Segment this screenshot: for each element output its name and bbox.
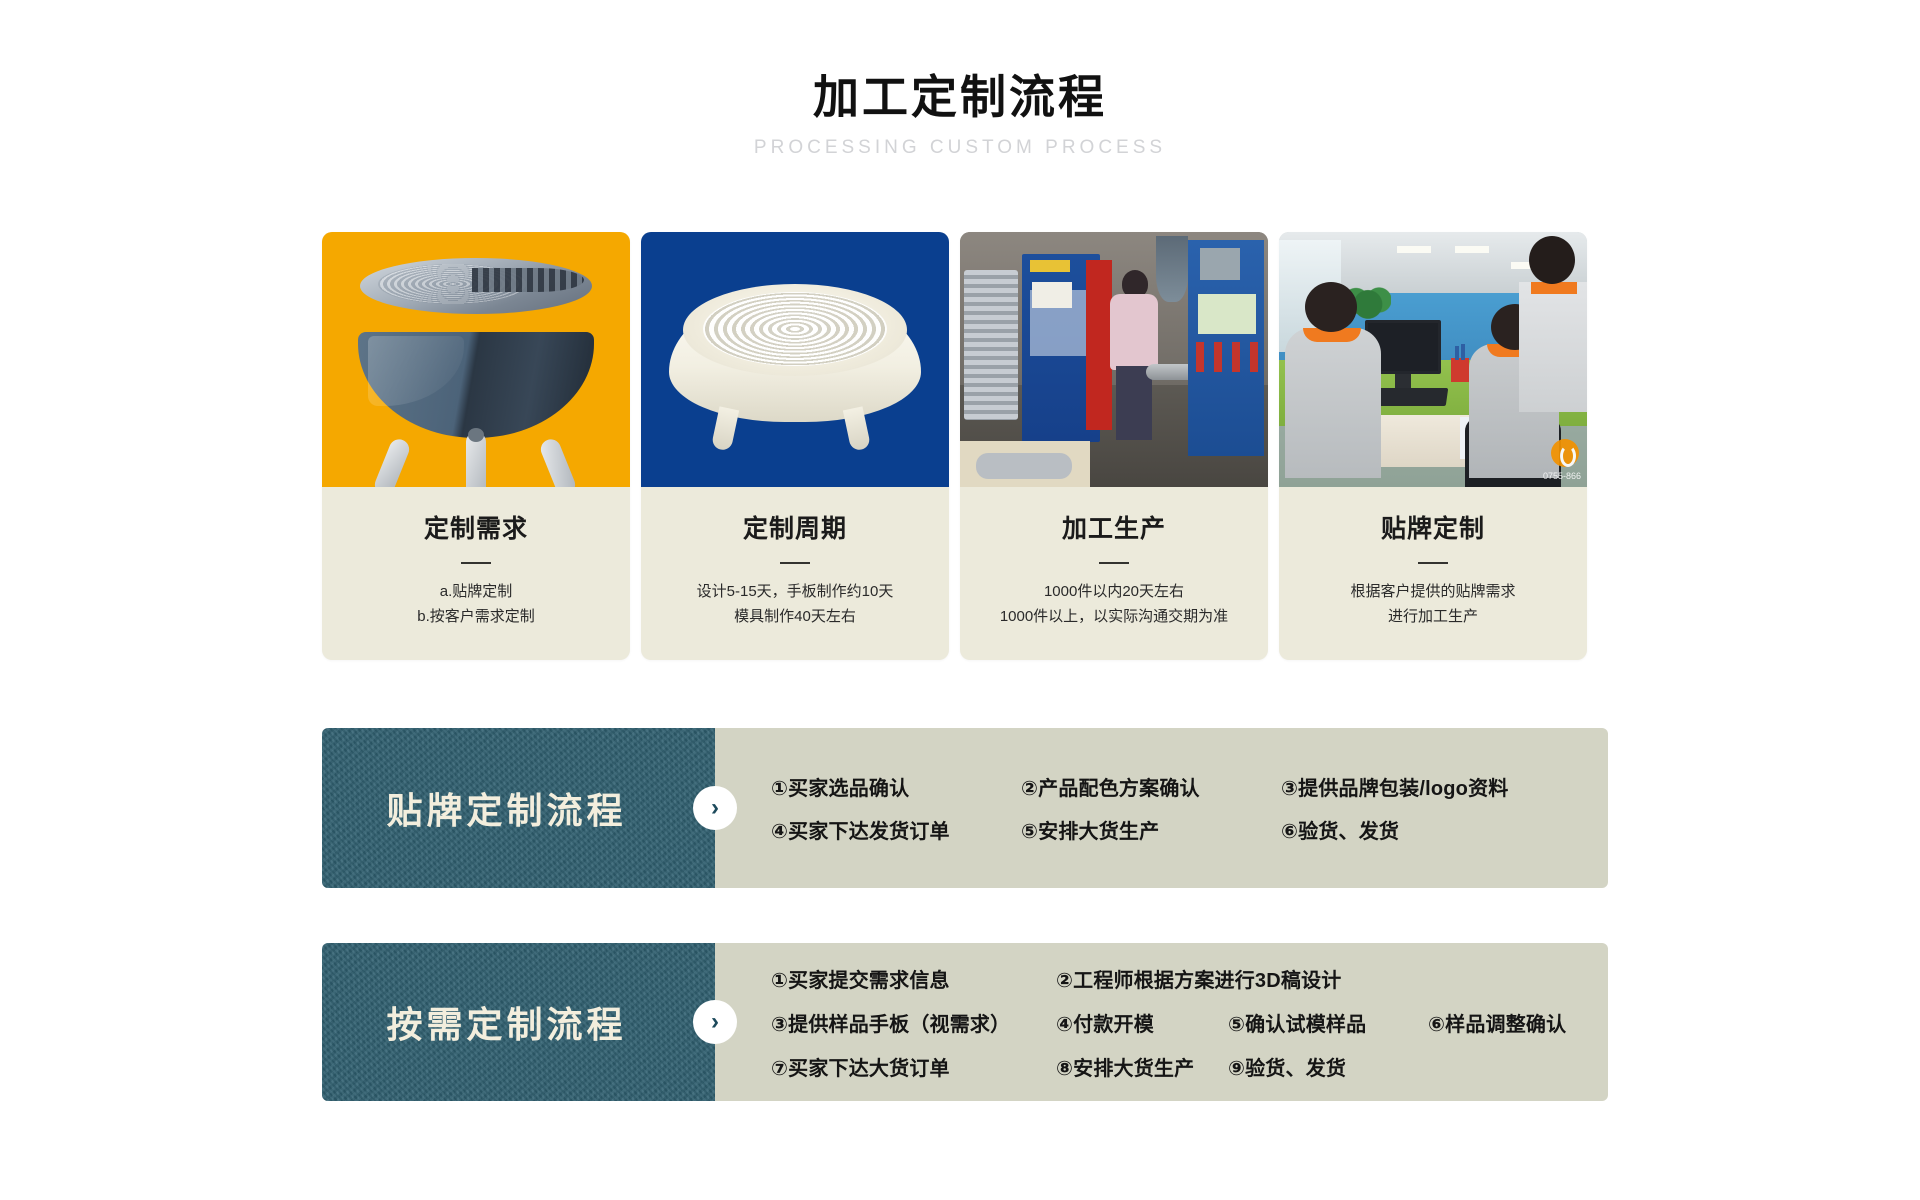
- step-item: ③提供品牌包装/logo资料: [1281, 772, 1509, 801]
- step-row: ④买家下达发货订单 ⑤安排大货生产 ⑥验货、发货: [771, 808, 1574, 851]
- exploded-product-render-image: [322, 232, 630, 487]
- prototype-leg-left-shape: [711, 406, 739, 451]
- process-card-4[interactable]: 0755-866 贴牌定制 根据客户提供的贴牌需求 进行加工生产: [1279, 232, 1587, 660]
- step-item: ①买家选品确认: [771, 772, 1021, 801]
- factory-hopper-duct-shape: [1156, 236, 1188, 302]
- oem-process-label-panel: 贴牌定制流程 ›: [322, 728, 715, 888]
- phone-watermark: 0755-866: [1543, 471, 1581, 481]
- custom-process-label-panel: 按需定制流程 ›: [322, 943, 715, 1101]
- white-prototype-photo-image: [641, 232, 949, 487]
- design-office-photo-image: 0755-866: [1279, 232, 1587, 487]
- process-card-4-desc-line-2: 进行加工生产: [1388, 605, 1478, 630]
- process-card-4-title: 贴牌定制: [1381, 509, 1485, 545]
- product-leg-left-shape: [372, 436, 412, 487]
- step-item: ⑤确认试模样品: [1228, 1008, 1428, 1037]
- office-ceiling-light-shape: [1397, 246, 1431, 253]
- factory-molded-part-shape: [976, 453, 1072, 479]
- process-card-3-desc-line-2: 1000件以上，以实际沟通交期为准: [1000, 605, 1228, 630]
- process-card-3-body: 加工生产 1000件以内20天左右 1000件以上，以实际沟通交期为准: [960, 487, 1268, 660]
- step-item: ①买家提交需求信息: [771, 964, 1056, 993]
- step-item: ⑦买家下达大货订单: [771, 1052, 1056, 1081]
- step-item: ⑧安排大货生产: [1056, 1052, 1228, 1081]
- factory-red-column-shape: [1086, 260, 1112, 430]
- process-card-1-desc-line-1: a.贴牌定制: [440, 580, 513, 605]
- oem-process-banner: 贴牌定制流程 › ①买家选品确认 ②产品配色方案确认 ③提供品牌包装/logo资…: [322, 728, 1608, 888]
- step-item: ④付款开模: [1056, 1008, 1228, 1037]
- chevron-right-icon[interactable]: ›: [693, 786, 737, 830]
- process-card-1-title: 定制需求: [424, 509, 528, 545]
- process-card-2[interactable]: 定制周期 设计5-15天，手板制作约10天 模具制作40天左右: [641, 232, 949, 660]
- office-person-right-body-shape: [1519, 282, 1587, 412]
- factory-machine-label-shape: [1030, 260, 1070, 272]
- office-person-right-head-shape: [1529, 236, 1575, 284]
- custom-process-step-list: ①买家提交需求信息 ②工程师根据方案进行3D稿设计 ③提供样品手板（视需求） ④…: [715, 943, 1608, 1101]
- process-card-2-desc-line-1: 设计5-15天，手板制作约10天: [697, 580, 894, 605]
- office-monitor-stand-shape: [1395, 374, 1411, 388]
- page-header: 加工定制流程 PROCESSING CUSTOM PROCESS: [0, 0, 1920, 159]
- process-card-3-desc-line-1: 1000件以内20天左右: [1044, 580, 1184, 605]
- factory-panel-upper-screen-shape: [1200, 248, 1240, 280]
- step-row: ①买家提交需求信息 ②工程师根据方案进行3D稿设计: [771, 956, 1574, 1000]
- step-row: ③提供样品手板（视需求） ④付款开模 ⑤确认试模样品 ⑥样品调整确认: [771, 1000, 1574, 1044]
- page-title: 加工定制流程: [0, 72, 1920, 123]
- process-card-1[interactable]: 定制需求 a.贴牌定制 b.按客户需求定制: [322, 232, 630, 660]
- step-row: ①买家选品确认 ②产品配色方案确认 ③提供品牌包装/logo资料: [771, 765, 1574, 808]
- process-card-4-body: 贴牌定制 根据客户提供的贴牌需求 进行加工生产: [1279, 487, 1587, 660]
- divider: [1099, 562, 1129, 564]
- step-item: ④买家下达发货订单: [771, 815, 1021, 844]
- process-card-list: 定制需求 a.贴牌定制 b.按客户需求定制 定制周期 设计5-15天，手板制作约…: [322, 232, 1608, 660]
- factory-panel-buttons-shape: [1196, 342, 1258, 372]
- process-card-2-title: 定制周期: [743, 509, 847, 545]
- prototype-maze-pattern-shape: [703, 292, 887, 366]
- office-pen-cup-shape: [1451, 358, 1469, 382]
- step-item: ⑥样品调整确认: [1428, 1008, 1566, 1037]
- step-item: ⑥验货、发货: [1281, 815, 1399, 844]
- product-lid-slots-shape: [472, 268, 584, 292]
- office-keyboard-shape: [1374, 388, 1449, 406]
- divider: [780, 562, 810, 564]
- process-card-2-desc-line-2: 模具制作40天左右: [734, 605, 856, 630]
- office-person-left-head-shape: [1305, 282, 1357, 332]
- office-ceiling-light-shape: [1455, 246, 1489, 253]
- oem-process-step-list: ①买家选品确认 ②产品配色方案确认 ③提供品牌包装/logo资料 ④买家下达发货…: [715, 728, 1608, 888]
- step-item: ⑨验货、发货: [1228, 1052, 1346, 1081]
- factory-panel-screen-shape: [1198, 294, 1256, 334]
- step-row: ⑦买家下达大货订单 ⑧安排大货生产 ⑨验货、发货: [771, 1044, 1574, 1088]
- step-item: ③提供样品手板（视需求）: [771, 1008, 1056, 1037]
- custom-process-label: 按需定制流程: [386, 996, 626, 1048]
- custom-on-demand-process-banner: 按需定制流程 › ①买家提交需求信息 ②工程师根据方案进行3D稿设计 ③提供样品…: [322, 943, 1608, 1101]
- process-card-3-title: 加工生产: [1062, 509, 1166, 545]
- company-logo-watermark-icon: [1551, 439, 1579, 467]
- factory-warning-sign-shape: [1032, 282, 1072, 308]
- chevron-right-icon[interactable]: ›: [693, 1000, 737, 1044]
- factory-production-photo-image: [960, 232, 1268, 487]
- factory-worker-legs-shape: [1116, 366, 1152, 440]
- step-item: ⑤安排大货生产: [1021, 815, 1281, 844]
- product-leg-right-shape: [538, 436, 578, 487]
- process-card-1-body: 定制需求 a.贴牌定制 b.按客户需求定制: [322, 487, 630, 660]
- factory-worker-body-shape: [1110, 294, 1158, 370]
- factory-parts-stack-shape: [964, 270, 1018, 420]
- page-subtitle: PROCESSING CUSTOM PROCESS: [0, 137, 1920, 159]
- process-card-1-desc-line-2: b.按客户需求定制: [417, 605, 535, 630]
- divider: [461, 562, 491, 564]
- divider: [1418, 562, 1448, 564]
- step-item: ②工程师根据方案进行3D稿设计: [1056, 964, 1342, 993]
- office-person-left-body-shape: [1285, 328, 1381, 478]
- process-card-2-body: 定制周期 设计5-15天，手板制作约10天 模具制作40天左右: [641, 487, 949, 660]
- process-card-4-desc-line-1: 根据客户提供的贴牌需求: [1350, 580, 1515, 605]
- oem-process-label: 贴牌定制流程: [386, 782, 626, 834]
- page-root: 加工定制流程 PROCESSING CUSTOM PROCESS 定制需求 a.…: [0, 0, 1920, 1200]
- process-card-3[interactable]: 加工生产 1000件以内20天左右 1000件以上，以实际沟通交期为准: [960, 232, 1268, 660]
- step-item: ②产品配色方案确认: [1021, 772, 1281, 801]
- product-leg-center-shape: [466, 432, 486, 487]
